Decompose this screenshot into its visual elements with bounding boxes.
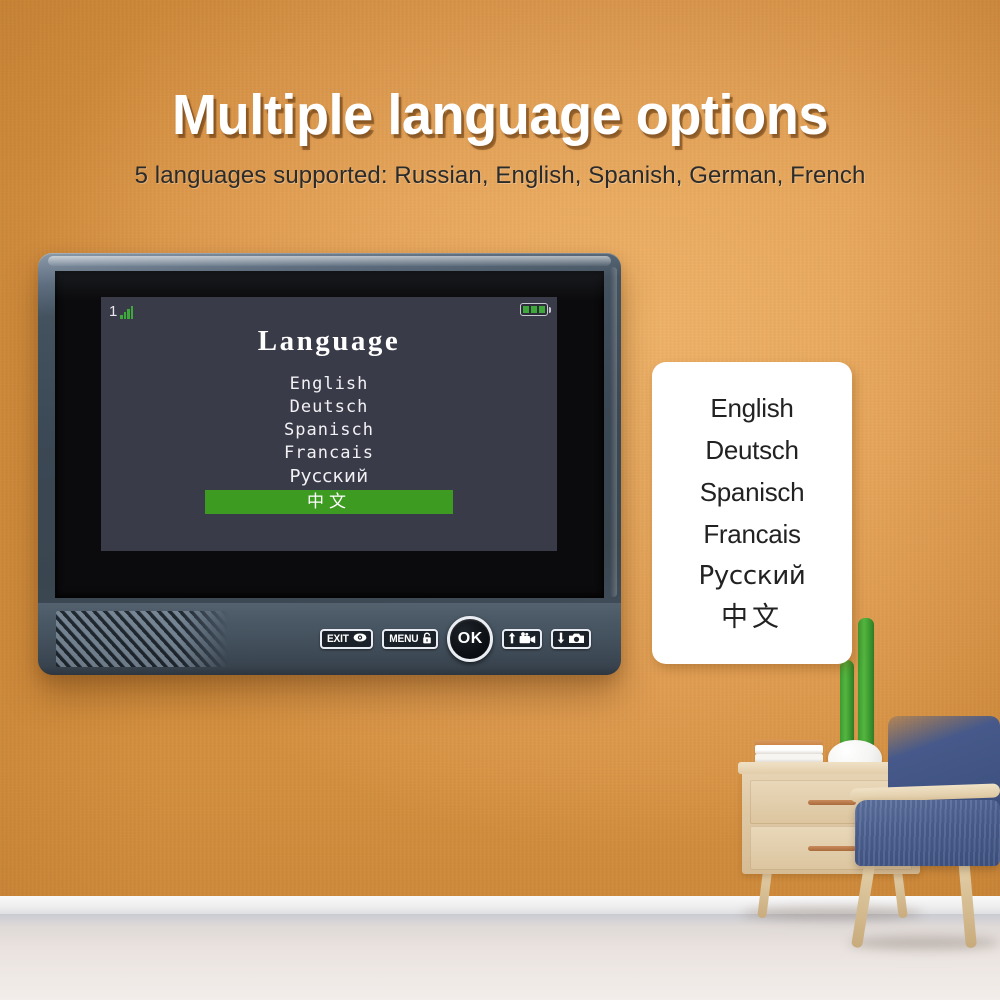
- ok-button-label: OK: [458, 630, 483, 648]
- ok-button[interactable]: OK: [447, 616, 493, 662]
- page-subtitle: 5 languages supported: Russian, English,…: [0, 162, 1000, 190]
- osd-option-russian[interactable]: Русский: [101, 465, 557, 488]
- osd-option-spanisch[interactable]: Spanisch: [101, 419, 557, 442]
- card-item-deutsch: Deutsch: [705, 430, 798, 470]
- osd-option-deutsch[interactable]: Deutsch: [101, 396, 557, 419]
- product-lifestyle-scene: Multiple language options 5 languages su…: [0, 0, 1000, 1000]
- card-item-spanisch: Spanisch: [700, 472, 805, 512]
- record-video-button[interactable]: [502, 629, 542, 649]
- button-row: EXIT MENU: [278, 603, 621, 675]
- osd-option-english[interactable]: English: [101, 373, 557, 396]
- card-item-chinese: 中文: [721, 598, 783, 638]
- battery-icon: [520, 303, 548, 316]
- signal-bars-icon: 1: [109, 302, 133, 319]
- arrow-up-icon: [508, 632, 516, 647]
- baseboard: [0, 896, 1000, 916]
- control-deck: EXIT MENU: [38, 603, 621, 675]
- exit-button-label: EXIT: [327, 634, 349, 645]
- card-item-russian: Русский: [698, 556, 805, 596]
- bezel-highlight: [48, 256, 611, 266]
- osd-option-chinese-selected[interactable]: 中文: [205, 490, 453, 514]
- bezel-side-highlight: [610, 267, 617, 597]
- language-callout-card: English Deutsch Spanisch Francais Русски…: [652, 362, 852, 664]
- signal-level-label: 1: [109, 304, 117, 319]
- page-title: Multiple language options: [25, 82, 975, 148]
- floor-sheen: [0, 914, 1000, 1000]
- menu-button[interactable]: MENU: [382, 629, 439, 649]
- osd-option-francais[interactable]: Francais: [101, 442, 557, 465]
- osd-status-bar: 1: [101, 297, 557, 325]
- lock-icon: [422, 632, 432, 647]
- card-item-francais: Francais: [703, 514, 800, 554]
- camera-icon: [568, 632, 585, 647]
- card-item-english: English: [710, 388, 793, 428]
- camcorder-icon: [519, 632, 536, 647]
- signal-bar-group: [120, 306, 133, 319]
- speaker-grille-icon: [56, 611, 228, 667]
- osd-menu-title: Language: [101, 325, 557, 358]
- osd-panel: 1 Language English Deutsch Spanisch Fran…: [101, 297, 557, 551]
- exit-button[interactable]: EXIT: [320, 629, 373, 649]
- take-photo-button[interactable]: [551, 629, 591, 649]
- arrow-down-icon: [557, 632, 565, 647]
- language-option-list: English Deutsch Spanisch Francais Русски…: [101, 373, 557, 514]
- menu-button-label: MENU: [389, 634, 418, 645]
- eye-icon: [353, 633, 367, 645]
